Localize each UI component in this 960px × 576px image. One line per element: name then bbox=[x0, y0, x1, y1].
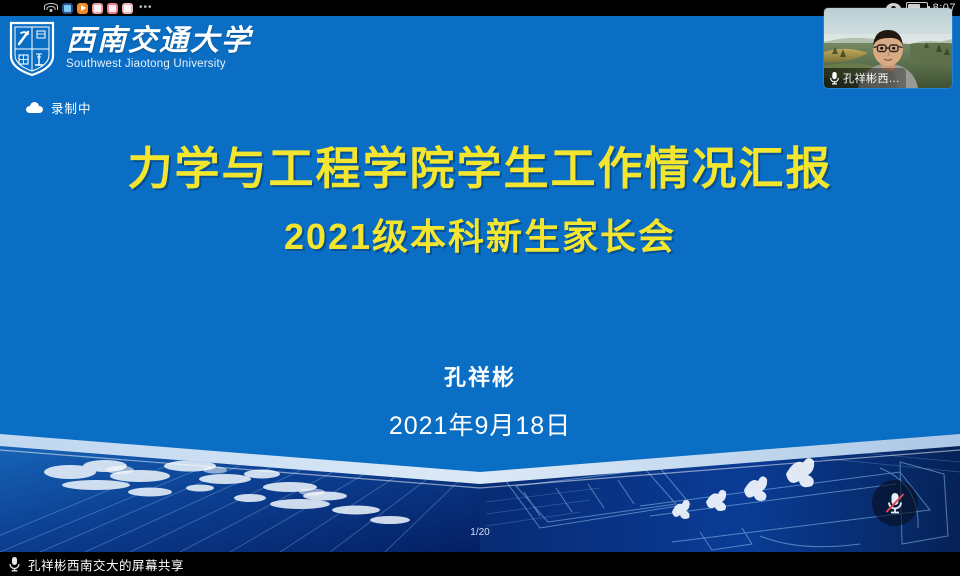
webcam-self-view[interactable]: 孔祥彬西... bbox=[824, 8, 952, 88]
screen-share-label: 孔祥彬西南交大的屏幕共享 bbox=[28, 555, 184, 574]
university-shield-icon bbox=[8, 20, 56, 78]
microphone-muted-icon[interactable] bbox=[872, 480, 918, 526]
recording-indicator: 录制中 bbox=[26, 98, 92, 117]
app-icon-play[interactable] bbox=[77, 3, 88, 14]
university-name-en: Southwest Jiaotong University bbox=[66, 59, 252, 71]
recording-label: 录制中 bbox=[51, 98, 92, 117]
webcam-participant-name: 孔祥彬西... bbox=[843, 70, 900, 86]
university-branding: 西南交通大学 Southwest Jiaotong University bbox=[8, 20, 252, 78]
slide-title-main: 力学与工程学院学生工作情况汇报 bbox=[0, 144, 960, 194]
cloud-icon bbox=[26, 102, 43, 113]
university-name-block: 西南交通大学 Southwest Jiaotong University bbox=[66, 27, 252, 71]
app-icon-blue[interactable] bbox=[62, 3, 73, 14]
university-name-cn: 西南交通大学 bbox=[66, 27, 252, 56]
overflow-dots-icon[interactable]: ••• bbox=[139, 3, 153, 13]
slide-presenter-name: 孔祥彬 bbox=[0, 360, 960, 392]
app-icon-pink-3[interactable] bbox=[122, 3, 133, 14]
app-icon-pink-2[interactable] bbox=[107, 3, 118, 14]
status-bar-app-icons: ••• bbox=[44, 1, 153, 15]
presentation-slide: 西南交通大学 Southwest Jiaotong University 录制中… bbox=[0, 16, 960, 552]
os-status-bar: ••• 8:07 bbox=[0, 0, 960, 16]
slide-title-sub: 2021级本科新生家长会 bbox=[0, 208, 960, 260]
microphone-icon bbox=[829, 71, 840, 85]
microphone-icon[interactable] bbox=[8, 556, 21, 572]
slide-page-indicator: 1/20 bbox=[0, 527, 960, 538]
app-icon-pink-1[interactable] bbox=[92, 3, 103, 14]
screen-share-bar: 孔祥彬西南交大的屏幕共享 bbox=[0, 552, 960, 576]
webcam-participant-label: 孔祥彬西... bbox=[824, 68, 906, 88]
screen-share-view: ••• 8:07 bbox=[0, 0, 960, 576]
wifi-icon bbox=[44, 3, 58, 14]
